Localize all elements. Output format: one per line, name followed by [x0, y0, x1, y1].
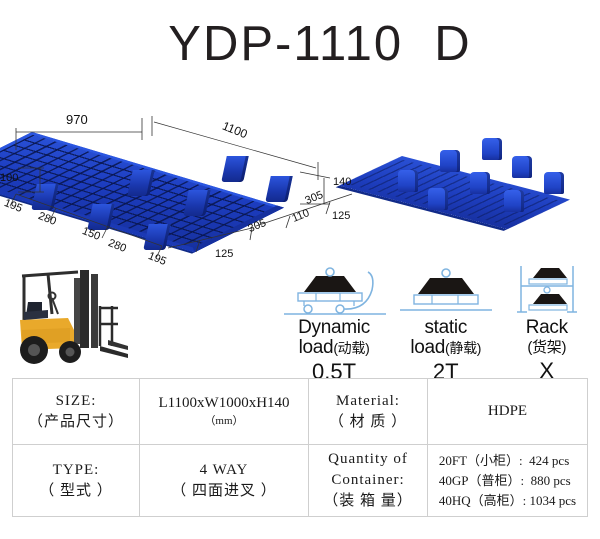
dimension-leader-lines: [0, 110, 600, 270]
material-value-cell: HDPE: [428, 379, 588, 445]
table-row: TYPE: （ 型式 ） 4 WAY （ 四面进叉 ） Quantity of …: [13, 445, 588, 517]
size-value-unit: （mm）: [204, 415, 243, 427]
static-load-icon: [400, 264, 492, 318]
material-label-cn: （ 材 质 ）: [313, 412, 423, 433]
type-label-en: TYPE:: [17, 460, 135, 481]
dimension-label-100: 100: [0, 172, 18, 184]
dynamic-load-label-cn: (动载): [333, 340, 369, 356]
container-quantity-list: 20FT（小柜）: 424 pcs 40GP（普柜）: 880 pcs 40HQ…: [439, 451, 576, 511]
table-row: SIZE: （产品尺寸） L1100xW1000xH140（mm） Materi…: [13, 379, 588, 445]
container-value-cell: 20FT（小柜）: 424 pcs 40GP（普柜）: 880 pcs 40HQ…: [428, 445, 588, 517]
size-label-cn: （产品尺寸）: [17, 412, 135, 433]
rack-load-label: Rack: [499, 318, 594, 338]
static-load-label-en: load: [410, 337, 445, 358]
dynamic-load-label-line1: Dynamic: [276, 318, 392, 338]
type-value-cell: 4 WAY （ 四面进叉 ）: [140, 445, 309, 517]
dimension-label-970: 970: [66, 112, 88, 127]
container-qty-40gp: 40GP（普柜）: 880 pcs: [439, 471, 576, 491]
type-value-en: 4 WAY: [144, 462, 304, 479]
load-capacity-rack: Rack (货架) X: [499, 262, 594, 383]
dynamic-load-icon: [282, 264, 386, 318]
load-capacity-block: Dynamic load(动载) 0.5T static load(静载) 2T: [276, 262, 594, 374]
type-label-cell: TYPE: （ 型式 ）: [13, 445, 140, 517]
container-label-en-1: Quantity of: [313, 449, 423, 470]
dynamic-load-label-en: load: [299, 337, 334, 358]
size-label-cell: SIZE: （产品尺寸）: [13, 379, 140, 445]
size-label-en: SIZE:: [17, 391, 135, 412]
pallet-diagram: 970 1100 100 140 195 280 150 280 195 125…: [0, 110, 600, 270]
static-load-label-line2: load(静载): [392, 338, 499, 358]
type-value-cn: （ 四面进叉 ）: [144, 479, 304, 500]
static-load-label-cn: (静载): [445, 340, 481, 356]
specification-table: SIZE: （产品尺寸） L1100xW1000xH140（mm） Materi…: [12, 378, 588, 517]
container-qty-40hq: 40HQ（高柜）: 1034 pcs: [439, 491, 576, 511]
dimension-label-125b: 125: [332, 210, 350, 222]
type-label-cn: （ 型式 ）: [17, 481, 135, 502]
static-load-label-line1: static: [392, 318, 499, 338]
material-label-cell: Material: （ 材 质 ）: [309, 379, 428, 445]
rack-load-icon: [511, 262, 583, 318]
container-label-cell: Quantity of Container: （装 箱 量）: [309, 445, 428, 517]
forklift-photo: [8, 258, 130, 370]
container-label-en-2: Container:: [313, 470, 423, 491]
size-value-cell: L1100xW1000xH140（mm）: [140, 379, 309, 445]
load-capacity-dynamic: Dynamic load(动载) 0.5T: [276, 262, 392, 384]
dynamic-load-label-line2: load(动载): [276, 338, 392, 358]
dimension-label-125a: 125: [215, 248, 233, 260]
size-value: L1100xW1000xH140: [158, 395, 289, 411]
page-title: YDP-1110 D: [0, 16, 600, 72]
dimension-label-140: 140: [333, 176, 351, 188]
load-capacity-static: static load(静载) 2T: [392, 262, 499, 384]
rack-load-label-cn: (货架): [499, 338, 594, 357]
container-label-cn: （装 箱 量）: [313, 491, 423, 512]
material-label-en: Material:: [313, 391, 423, 412]
container-qty-20ft: 20FT（小柜）: 424 pcs: [439, 451, 576, 471]
